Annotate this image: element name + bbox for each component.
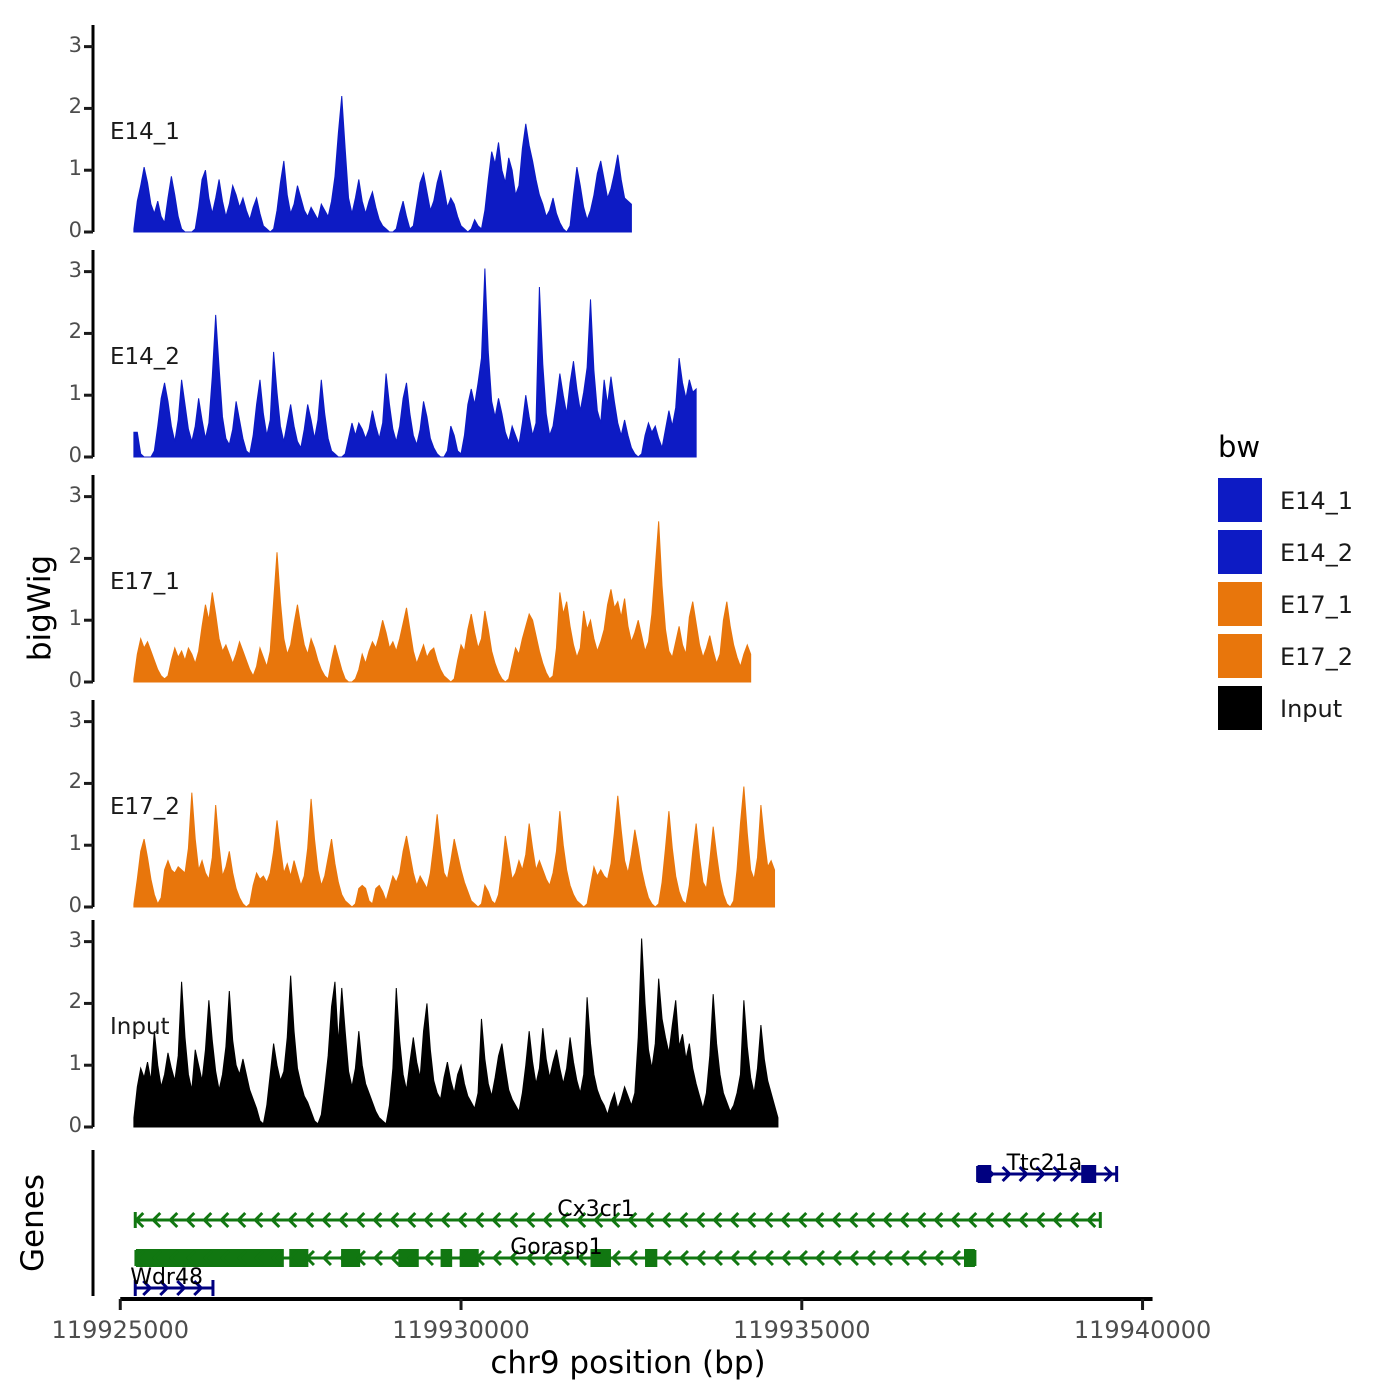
legend-swatch-e14_1[interactable] xyxy=(1218,478,1262,522)
signal-area-svg xyxy=(0,250,1200,469)
y-tick-label: 0 xyxy=(40,1113,82,1137)
y-tick-label: 3 xyxy=(40,258,82,282)
gene-label-wdr48: Wdr48 xyxy=(130,1265,203,1290)
track-label-input: Input xyxy=(110,1014,170,1040)
x-axis-label: chr9 position (bp) xyxy=(93,1345,1163,1381)
y-tick-label: 1 xyxy=(40,1051,82,1075)
legend-title: bw xyxy=(1218,430,1260,464)
y-tick-label: 1 xyxy=(40,156,82,180)
legend-swatch-input[interactable] xyxy=(1218,686,1262,730)
y-tick-label: 2 xyxy=(40,769,82,793)
gene-exon xyxy=(978,1165,992,1183)
gene-gorasp1[interactable]: Gorasp1 xyxy=(136,1235,975,1267)
track-label-e14_1: E14_1 xyxy=(110,119,180,145)
gene-ttc21a[interactable]: Ttc21a xyxy=(978,1151,1117,1183)
y-tick-label: 3 xyxy=(40,708,82,732)
gene-label-cx3cr1: Cx3cr1 xyxy=(557,1197,635,1222)
legend-label-e17_2: E17_2 xyxy=(1280,643,1353,671)
y-tick-label: 0 xyxy=(40,218,82,242)
signal-area-e17_1 xyxy=(134,521,751,682)
track-label-e17_2: E17_2 xyxy=(110,794,180,820)
legend-label-input: Input xyxy=(1280,695,1342,723)
signal-area-e14_2 xyxy=(134,269,696,457)
signal-track-input xyxy=(0,920,1200,1139)
signal-area-svg xyxy=(0,475,1200,694)
gene-wdr48[interactable]: Wdr48 xyxy=(130,1265,213,1296)
y-tick-label: 1 xyxy=(40,831,82,855)
gene-label-gorasp1: Gorasp1 xyxy=(510,1235,602,1260)
y-tick-label: 3 xyxy=(40,33,82,57)
y-tick-label: 3 xyxy=(40,483,82,507)
track-label-e14_2: E14_2 xyxy=(110,344,180,370)
y-tick-label: 1 xyxy=(40,606,82,630)
legend-swatch-e17_1[interactable] xyxy=(1218,582,1262,626)
signal-area-e17_2 xyxy=(134,787,775,907)
signal-track-e17_2 xyxy=(0,700,1200,919)
y-tick-label: 2 xyxy=(40,94,82,118)
gene-track-panel: Ttc21aCx3cr1Gorasp1Wdr48 xyxy=(0,1148,1200,1298)
signal-area-svg xyxy=(0,700,1200,919)
signal-area-svg xyxy=(0,920,1200,1139)
legend-label-e14_1: E14_1 xyxy=(1280,487,1353,515)
signal-track-e14_2 xyxy=(0,250,1200,469)
signal-track-e14_1 xyxy=(0,25,1200,244)
gene-exon xyxy=(964,1249,975,1267)
signal-track-e17_1 xyxy=(0,475,1200,694)
x-tick-label: 119940000 xyxy=(1013,1316,1273,1344)
y-tick-label: 0 xyxy=(40,443,82,467)
x-tick-label: 119925000 xyxy=(0,1316,250,1344)
y-tick-label: 3 xyxy=(40,928,82,952)
gene-track-svg: Ttc21aCx3cr1Gorasp1Wdr48 xyxy=(0,1148,1200,1298)
y-tick-label: 2 xyxy=(40,989,82,1013)
y-tick-label: 2 xyxy=(40,319,82,343)
y-tick-label: 1 xyxy=(40,381,82,405)
y-tick-label: 2 xyxy=(40,544,82,568)
legend-swatch-e17_2[interactable] xyxy=(1218,634,1262,678)
x-tick-label: 119930000 xyxy=(331,1316,591,1344)
signal-area-e14_1 xyxy=(134,96,632,232)
gene-label-ttc21a: Ttc21a xyxy=(1006,1151,1083,1176)
y-tick-label: 0 xyxy=(40,668,82,692)
legend-label-e17_1: E17_1 xyxy=(1280,591,1353,619)
track-label-e17_1: E17_1 xyxy=(110,569,180,595)
gene-cx3cr1[interactable]: Cx3cr1 xyxy=(135,1197,1100,1228)
y-tick-label: 0 xyxy=(40,893,82,917)
x-tick-label: 119935000 xyxy=(672,1316,932,1344)
legend-label-e14_2: E14_2 xyxy=(1280,539,1353,567)
signal-area-svg xyxy=(0,25,1200,244)
legend-swatch-e14_2[interactable] xyxy=(1218,530,1262,574)
signal-area-input xyxy=(134,939,778,1127)
